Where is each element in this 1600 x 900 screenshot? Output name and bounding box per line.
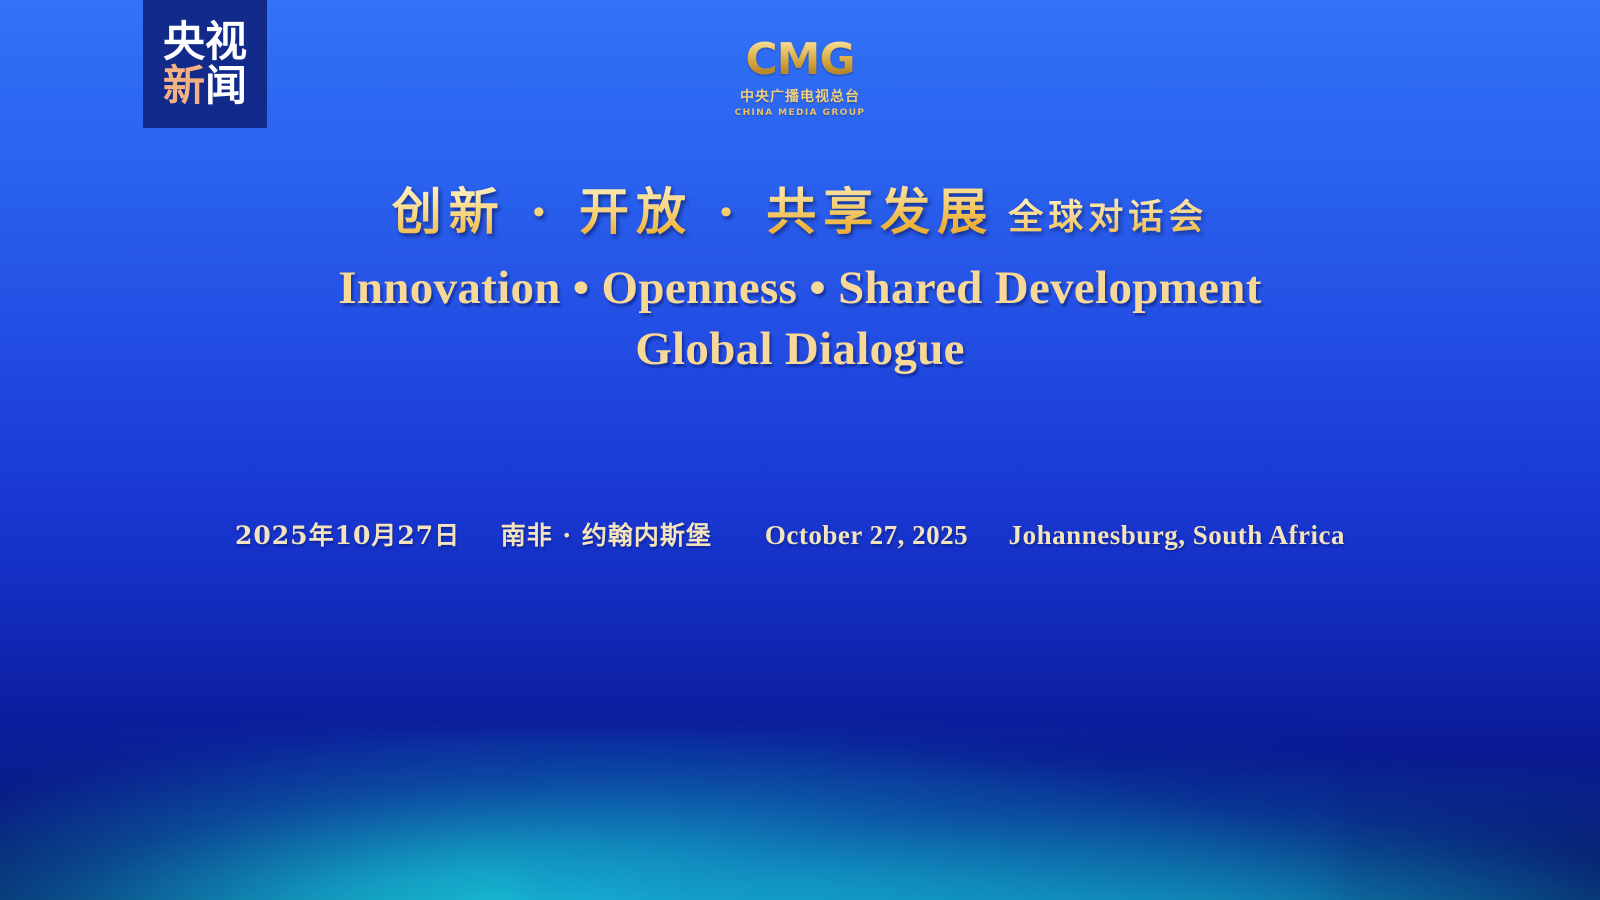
- headline-chinese-main: 创新 · 开放 · 共享发展: [392, 182, 994, 241]
- cmg-logo: CMG 中央广播电视总台 CHINA MEDIA GROUP: [0, 38, 1600, 118]
- headline-english: Innovation • Openness • Shared Developme…: [0, 258, 1600, 380]
- event-title-card: 央视 新 闻 CMG 中央广播电视总台 CHINA MEDIA GROUP 创新…: [0, 0, 1600, 900]
- bottom-teal-glow-left: [0, 730, 1340, 900]
- cmg-english-name: CHINA MEDIA GROUP: [735, 108, 866, 118]
- headline-chinese-sub: 全球对话会: [1008, 197, 1208, 238]
- bottom-teal-glow-right: [520, 770, 1600, 900]
- headline-chinese: 创新 · 开放 · 共享发展全球对话会: [0, 172, 1600, 244]
- event-date-english: October 27, 2025: [765, 520, 968, 551]
- event-location-english: Johannesburg, South Africa: [1009, 520, 1345, 551]
- headline-english-line-1: Innovation • Openness • Shared Developme…: [338, 262, 1261, 314]
- event-date-chinese: 2025年10月27日: [235, 516, 460, 552]
- headline-english-line-2: Global Dialogue: [0, 319, 1600, 380]
- event-meta-line: 2025年10月27日 南非 · 约翰内斯堡 October 27, 2025 …: [235, 516, 1345, 552]
- event-location-chinese: 南非 · 约翰内斯堡: [501, 516, 712, 552]
- cmg-chinese-name: 中央广播电视总台: [740, 86, 860, 106]
- cmg-wordmark: CMG: [745, 38, 854, 82]
